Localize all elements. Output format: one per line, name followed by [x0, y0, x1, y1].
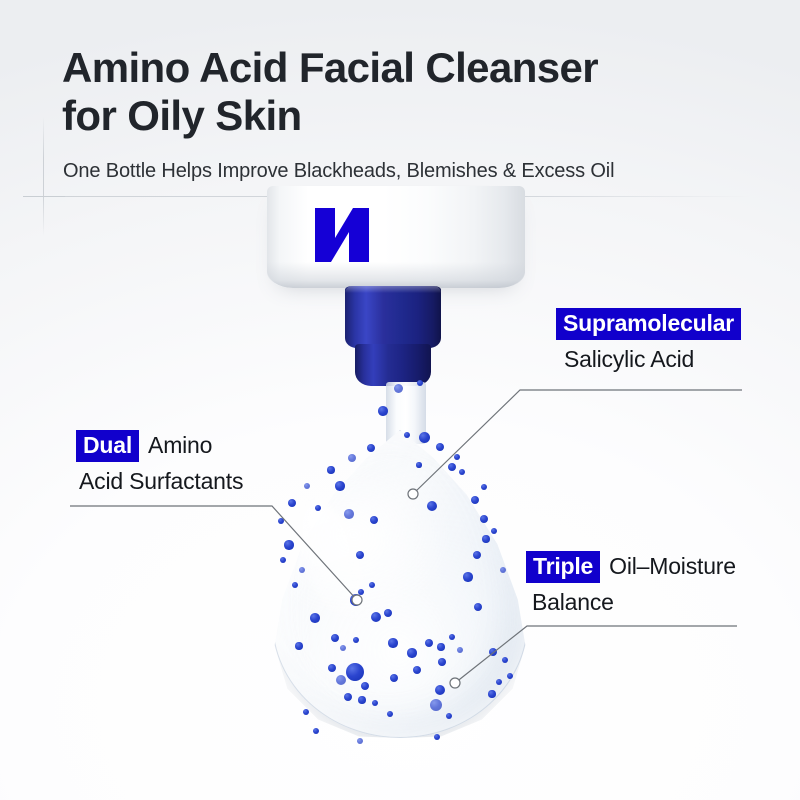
particle [284, 540, 293, 549]
particle [350, 594, 362, 606]
particle [292, 582, 299, 589]
callout-badge-dual: Dual [76, 430, 139, 462]
particle [425, 639, 433, 647]
particle [378, 406, 388, 416]
callout-text-dual: Acid Surfactants [79, 468, 243, 495]
particle [328, 664, 337, 673]
particle [474, 603, 483, 612]
particle [496, 679, 502, 685]
particle [457, 647, 463, 653]
callout-text-triple: Balance [532, 589, 736, 616]
particle [357, 738, 363, 744]
particle [427, 501, 437, 511]
particle [438, 658, 446, 666]
particle [315, 505, 321, 511]
particle [340, 645, 346, 651]
particle [446, 713, 452, 719]
particle [331, 634, 339, 642]
particle [417, 380, 423, 386]
callout-supramolecular: Supramolecular Salicylic Acid [556, 308, 741, 373]
particle [348, 454, 356, 462]
particle [295, 642, 302, 649]
particle [335, 481, 344, 490]
particle [404, 432, 410, 438]
particle [500, 567, 506, 573]
particle [435, 685, 445, 695]
particle [356, 551, 364, 559]
particle [394, 384, 403, 393]
particle [507, 673, 514, 680]
particle [353, 637, 359, 643]
product-feature-poster: Amino Acid Facial Cleanser for Oily Skin… [0, 0, 800, 800]
callout-dual: DualAmino Acid Surfactants [76, 430, 243, 495]
particle [437, 643, 444, 650]
particle [303, 709, 309, 715]
particle [369, 582, 376, 589]
particle [372, 700, 378, 706]
particle [299, 567, 305, 573]
particle [346, 663, 364, 681]
particle [454, 454, 461, 461]
particle [473, 551, 481, 559]
particle [384, 609, 393, 618]
particle [280, 557, 286, 563]
particle [288, 499, 297, 508]
particle [463, 572, 472, 581]
particle [480, 515, 488, 523]
particle [488, 690, 495, 697]
particle [482, 535, 489, 542]
particle [416, 462, 421, 467]
callout-inline-triple: Oil–Moisture [609, 553, 736, 580]
particle [387, 711, 394, 718]
particle [370, 516, 378, 524]
particle [371, 612, 382, 623]
particle [413, 666, 421, 674]
particle [419, 432, 430, 443]
particle [388, 638, 397, 647]
particle [430, 699, 442, 711]
ingredient-particles [0, 0, 800, 800]
particle [407, 648, 416, 657]
callout-triple: TripleOil–Moisture Balance [526, 551, 736, 616]
particle [304, 483, 311, 490]
particle [344, 509, 354, 519]
particle [327, 466, 334, 473]
callout-badge-triple: Triple [526, 551, 600, 583]
particle [390, 674, 399, 683]
particle [502, 657, 508, 663]
particle [278, 518, 284, 524]
callout-text-supramolecular: Salicylic Acid [564, 346, 741, 373]
particle [367, 444, 375, 452]
particle [361, 682, 369, 690]
particle [310, 613, 320, 623]
particle [434, 734, 440, 740]
callout-badge-supramolecular: Supramolecular [556, 308, 741, 340]
particle [344, 693, 352, 701]
particle [358, 696, 365, 703]
particle [449, 634, 455, 640]
particle [313, 728, 319, 734]
particle [336, 675, 346, 685]
particle [481, 484, 488, 491]
particle [491, 528, 497, 534]
callout-inline-dual: Amino [148, 432, 212, 459]
particle [471, 496, 479, 504]
particle [459, 469, 465, 475]
particle [448, 463, 457, 472]
particle [436, 443, 444, 451]
particle [489, 648, 497, 656]
